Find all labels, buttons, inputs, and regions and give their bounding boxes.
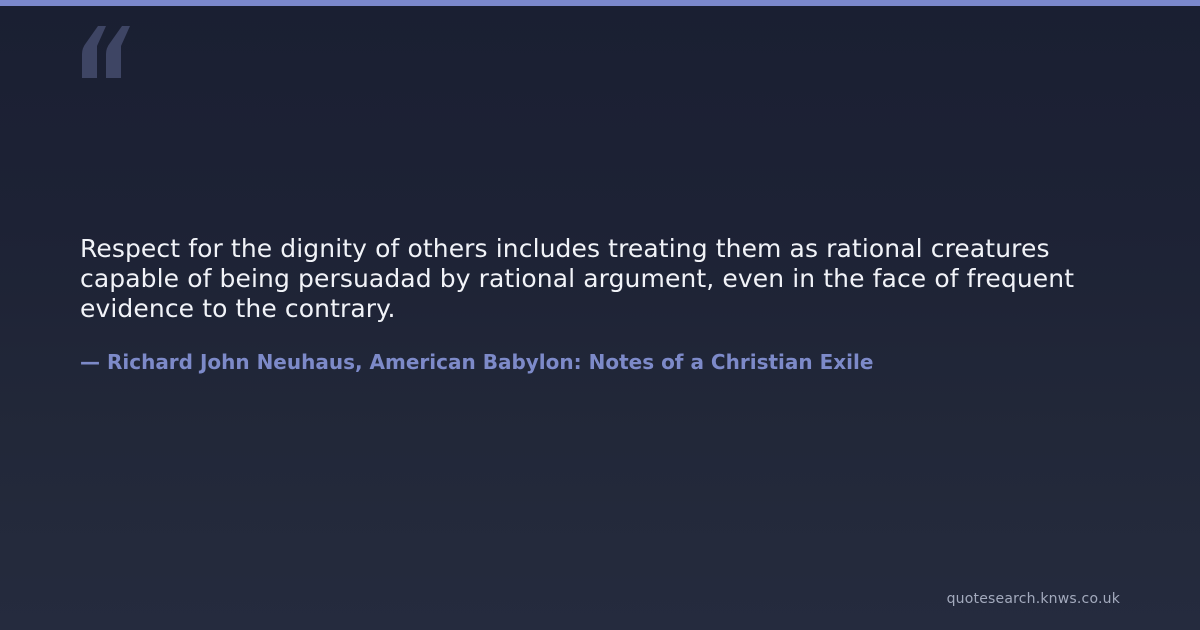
double-quote-open-icon [80,16,140,86]
quote-text: Respect for the dignity of others includ… [80,234,1116,324]
top-accent-bar [0,0,1200,6]
quote-attribution: — Richard John Neuhaus, American Babylon… [80,349,1120,375]
quote-card: Respect for the dignity of others includ… [0,0,1200,630]
site-watermark: quotesearch.knws.co.uk [947,590,1120,608]
